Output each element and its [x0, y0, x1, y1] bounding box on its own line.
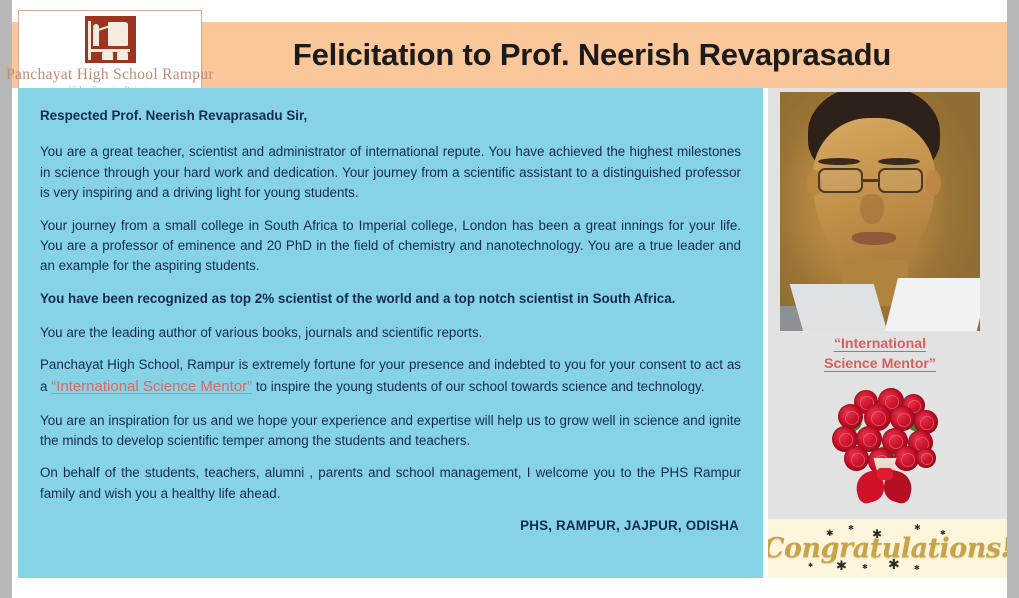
left-gray-rail [0, 0, 12, 598]
letter-paragraph-1: You are a great teacher, scientist and a… [40, 142, 741, 203]
eyeglasses-icon [816, 168, 932, 194]
letter-salutation: Respected Prof. Neerish Revaprasadu Sir, [40, 106, 741, 126]
school-logo-card: Panchayat High School Rampur Vidya Sarva… [18, 10, 202, 96]
right-gray-rail [1007, 0, 1019, 598]
slide-canvas: Felicitation to Prof. Neerish Revaprasad… [0, 0, 1019, 598]
school-emblem-icon [85, 16, 136, 63]
letter-recognition-line: You have been recognized as top 2% scien… [40, 289, 741, 309]
page-title: Felicitation to Prof. Neerish Revaprasad… [212, 22, 972, 88]
portrait-caption-line-2: Science Mentor” [824, 356, 936, 372]
international-science-mentor-highlight: “International Science Mentor” [51, 378, 252, 395]
letter-signature: PHS, RAMPUR, JAJPUR, ODISHA [40, 518, 741, 533]
felicitation-letter-panel: Respected Prof. Neerish Revaprasadu Sir,… [18, 88, 763, 578]
letter-paragraph-5: You are an inspiration for us and we hop… [40, 411, 741, 452]
school-name: Panchayat High School Rampur [6, 66, 214, 84]
rose-bouquet-image [824, 388, 952, 510]
letter-paragraph-4: Panchayat High School, Rampur is extreme… [40, 355, 741, 398]
portrait-caption-line-1: “International [834, 336, 926, 352]
letter-paragraph-3: You are the leading author of various bo… [40, 323, 741, 343]
portrait-photo [780, 92, 980, 331]
congratulations-banner: ✱ ✱ ✱ ✱ ✱ Congratulations! ✱ ✱ ✱ ✱ ✱ [768, 519, 1007, 578]
slide-body: Felicitation to Prof. Neerish Revaprasad… [12, 0, 1007, 598]
letter-paragraph-2: Your journey from a small college in Sou… [40, 216, 741, 277]
letter-paragraph-4-part2: to inspire the young students of our sch… [252, 379, 704, 394]
letter-paragraph-6: On behalf of the students, teachers, alu… [40, 463, 741, 504]
portrait-caption: “International Science Mentor” [780, 334, 980, 374]
congratulations-text: Congratulations! [768, 519, 1007, 578]
